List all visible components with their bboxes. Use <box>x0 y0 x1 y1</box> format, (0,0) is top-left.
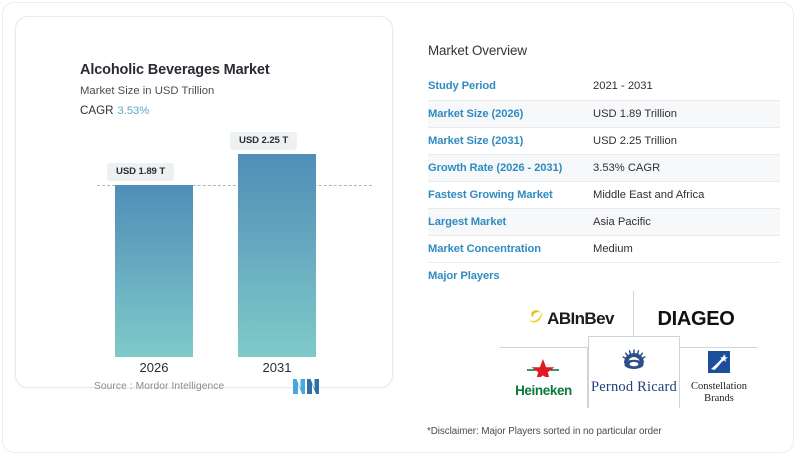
heineken-logo-text: Heineken <box>515 383 572 398</box>
chart-subtitle: Market Size in USD Trillion <box>80 85 214 97</box>
mordor-intelligence-logo <box>293 378 319 395</box>
bar-value-label-2026: USD 1.89 T <box>107 163 174 181</box>
heineken-star-icon <box>515 357 572 381</box>
row-label: Growth Rate (2026 - 2031) <box>428 154 593 181</box>
row-label: Market Concentration <box>428 235 593 262</box>
table-row: Growth Rate (2026 - 2031) 3.53% CAGR <box>428 154 780 181</box>
table-row: Market Size (2031) USD 2.25 Trillion <box>428 127 780 154</box>
abinbev-logo-text: ABInBev <box>547 309 614 329</box>
market-overview-panel: Market Overview Study Period 2021 - 2031… <box>428 43 780 289</box>
page-frame: Alcoholic Beverages Market Market Size i… <box>2 2 794 453</box>
bar-2031 <box>238 154 316 357</box>
row-value: 2021 - 2031 <box>593 73 780 100</box>
row-value: USD 2.25 Trillion <box>593 127 780 154</box>
abinbev-mark-icon <box>527 308 544 330</box>
bar-value-label-2031: USD 2.25 T <box>230 132 297 150</box>
row-label: Study Period <box>428 73 593 100</box>
overview-title: Market Overview <box>428 43 780 58</box>
overview-table: Study Period 2021 - 2031 Market Size (20… <box>428 73 780 289</box>
cagr-value: 3.53% <box>118 105 150 117</box>
row-label: Market Size (2026) <box>428 100 593 127</box>
pernod-ricard-logo-text: Pernod Ricard <box>591 379 677 395</box>
major-players-logo-grid: ABInBev DIAGEO Heineken <box>500 291 758 409</box>
chart-card: Alcoholic Beverages Market Market Size i… <box>15 16 393 388</box>
table-row: Market Concentration Medium <box>428 235 780 262</box>
cagr-row: CAGR3.53% <box>80 104 149 117</box>
table-row: Largest Market Asia Pacific <box>428 208 780 235</box>
bar-chart-plot: USD 1.89 T USD 2.25 T 2026 2031 <box>29 132 381 357</box>
constellation-logo-text-line1: Constellation <box>691 381 747 393</box>
table-row: Market Size (2026) USD 1.89 Trillion <box>428 100 780 127</box>
table-row: Fastest Growing Market Middle East and A… <box>428 181 780 208</box>
row-label: Market Size (2031) <box>428 127 593 154</box>
logo-cell-pernod-ricard: Pernod Ricard <box>588 336 680 408</box>
page-title: Alcoholic Beverages Market <box>80 62 270 78</box>
chart-source: Source : Mordor Intelligence <box>94 381 224 392</box>
bar-2026 <box>115 185 193 357</box>
x-axis-tick-2031: 2031 <box>227 360 327 375</box>
row-value: Middle East and Africa <box>593 181 780 208</box>
table-row: Study Period 2021 - 2031 <box>428 73 780 100</box>
row-label: Fastest Growing Market <box>428 181 593 208</box>
x-axis-tick-2026: 2026 <box>104 360 204 375</box>
logo-cell-heineken: Heineken <box>500 348 588 408</box>
row-label: Largest Market <box>428 208 593 235</box>
cagr-label: CAGR <box>80 104 114 117</box>
diageo-logo-text: DIAGEO <box>657 308 734 331</box>
row-label: Major Players <box>428 262 593 289</box>
constellation-logo-text-line2: Brands <box>691 393 747 405</box>
row-value: Asia Pacific <box>593 208 780 235</box>
pernod-ricard-sunburst-icon <box>591 349 677 376</box>
row-value: 3.53% CAGR <box>593 154 780 181</box>
row-value: USD 1.89 Trillion <box>593 100 780 127</box>
logo-cell-constellation-brands: Constellation Brands <box>680 348 758 408</box>
row-value <box>593 262 780 289</box>
constellation-star-icon <box>691 351 747 378</box>
row-value: Medium <box>593 235 780 262</box>
disclaimer-text: *Disclaimer: Major Players sorted in no … <box>427 426 662 437</box>
table-row: Major Players <box>428 262 780 289</box>
